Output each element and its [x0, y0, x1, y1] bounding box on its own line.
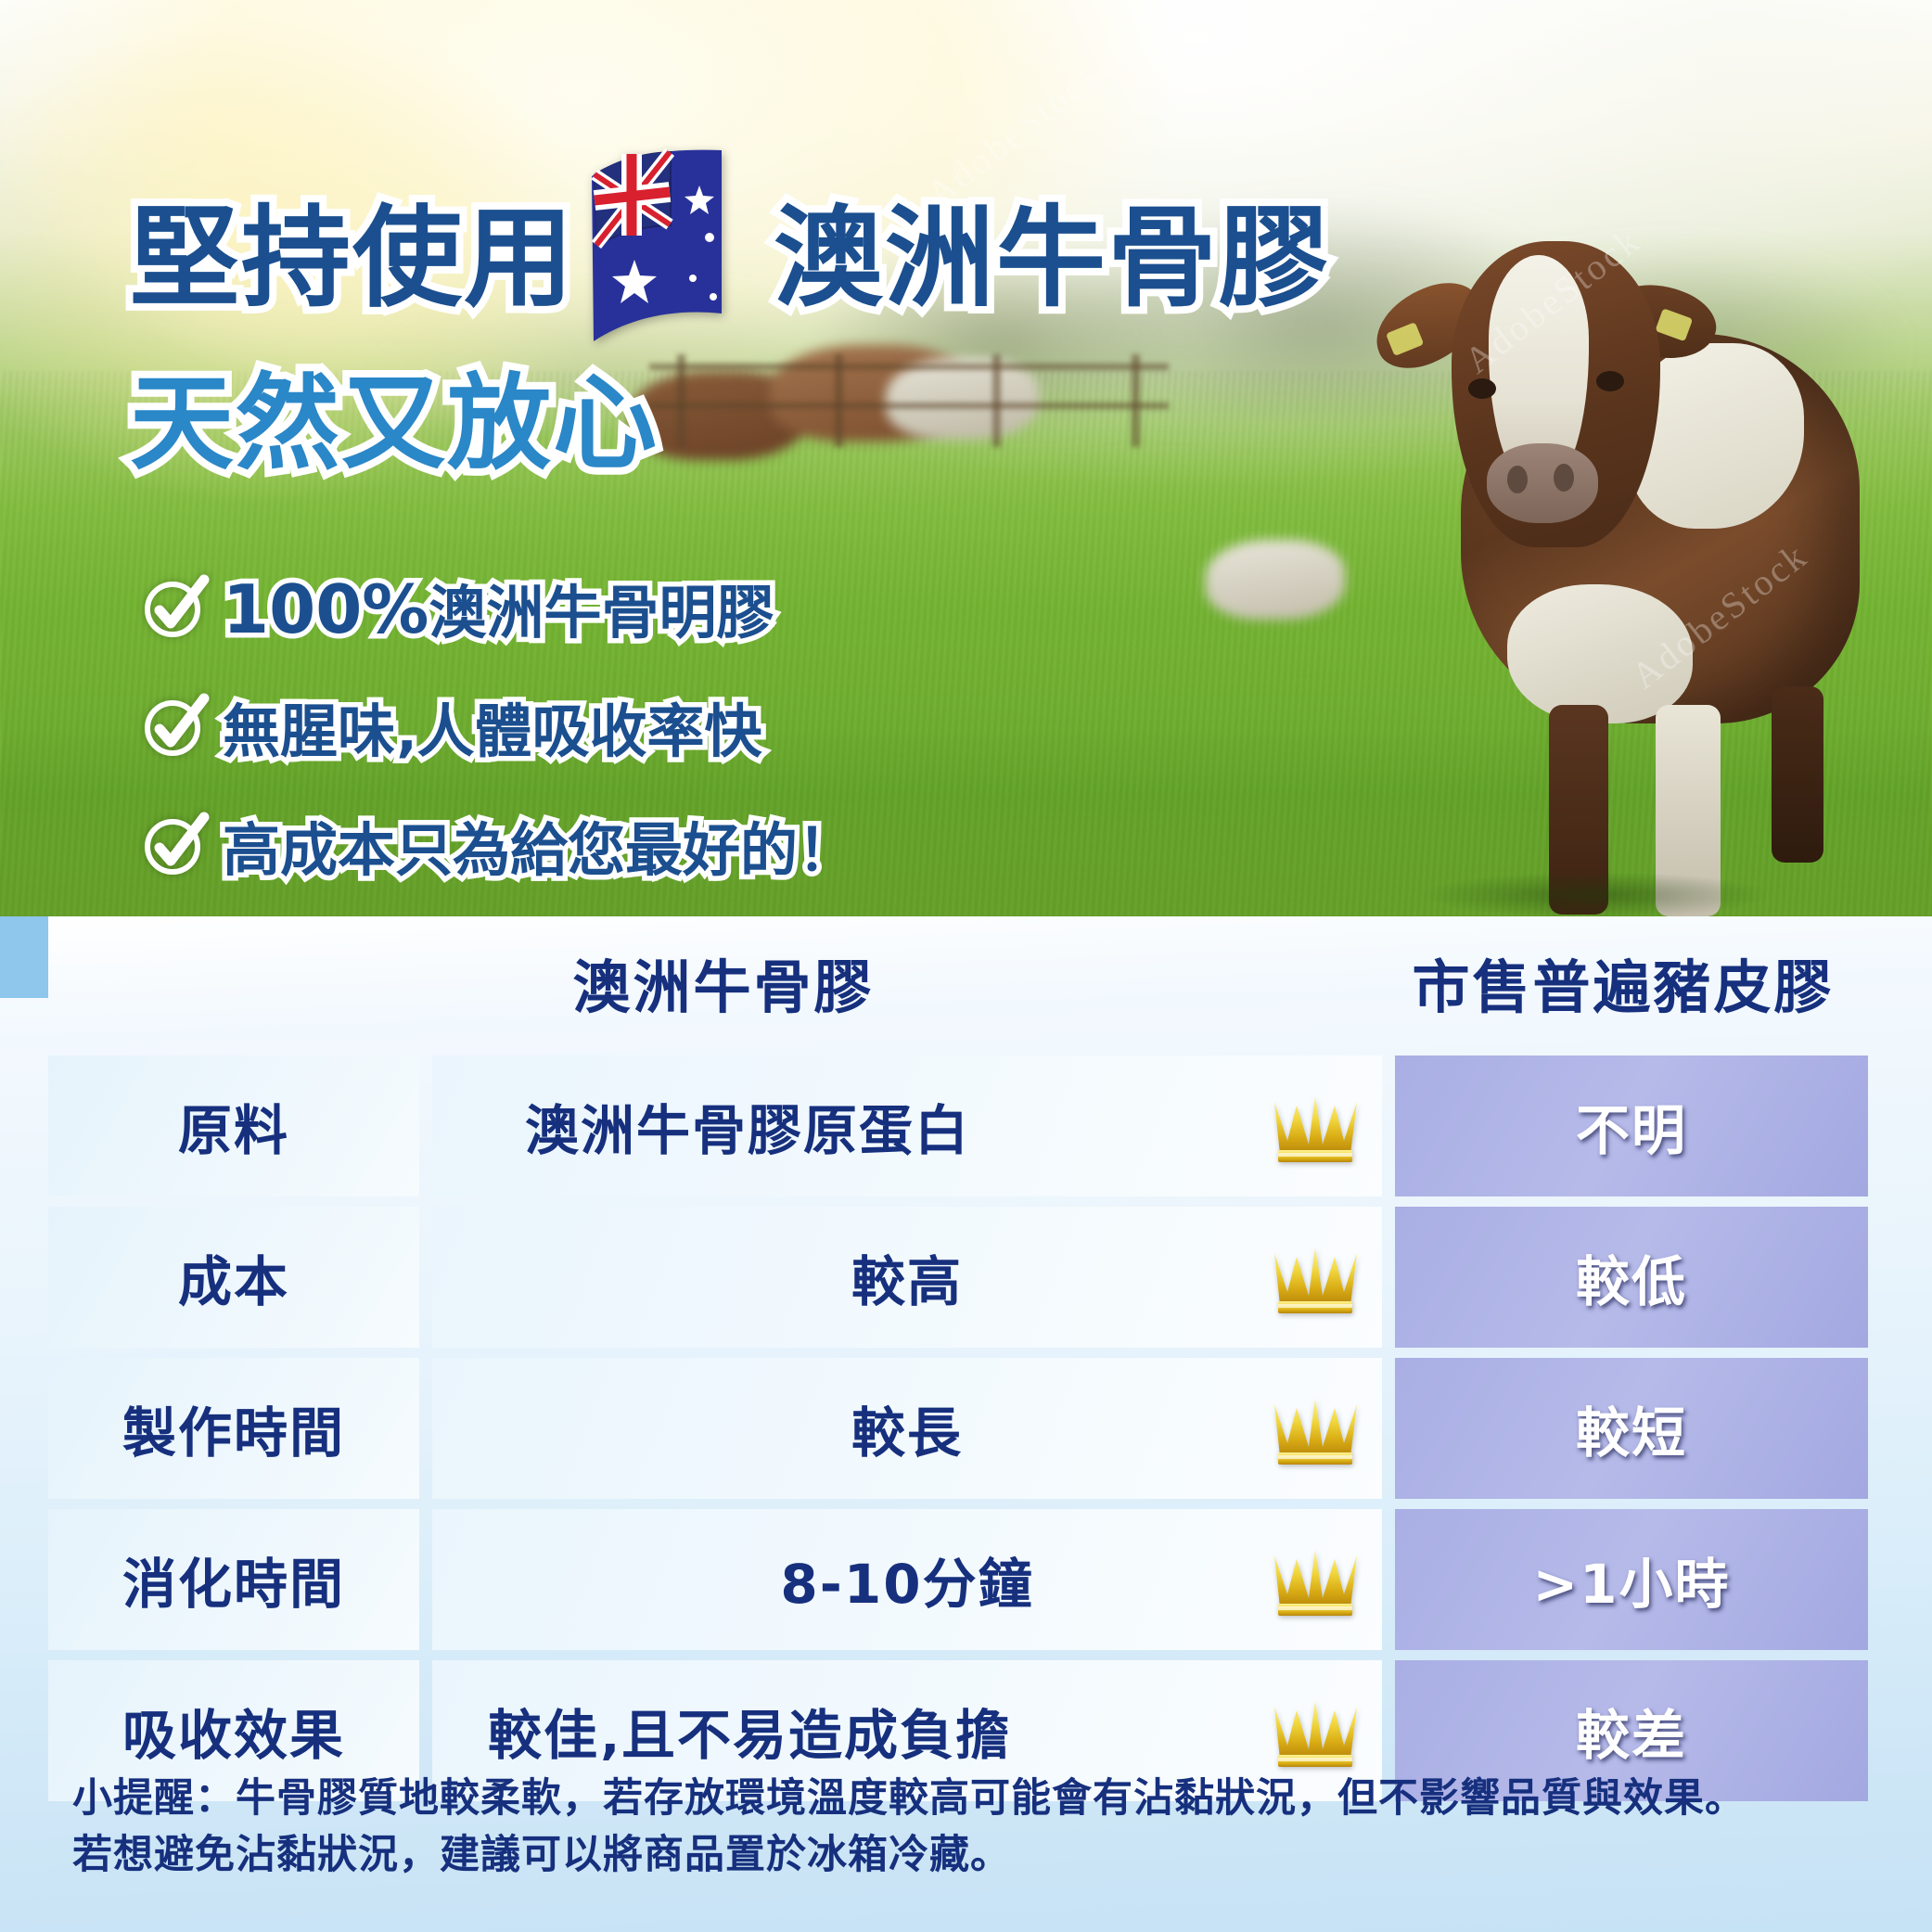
- column-header-theirs: 市售普遍豬皮膠: [1345, 940, 1901, 1024]
- list-item: 100%澳洲牛骨明膠: [139, 566, 855, 649]
- footer-note: 小提醒：牛骨膠質地較柔軟，若存放環境溫度較高可能會有沾黏狀況，但不影響品質與效果…: [72, 1771, 1881, 1884]
- row-label: 成本: [48, 1207, 419, 1348]
- bullet-text-1: 100%澳洲牛骨明膠: [223, 566, 774, 649]
- row-value-ours: 較長: [432, 1358, 1382, 1499]
- crown-icon: [1269, 1083, 1362, 1169]
- headline-line-2: 天然又放心: [130, 371, 659, 477]
- row-label: 消化時間: [48, 1509, 419, 1650]
- australia-flag-icon: [582, 148, 731, 348]
- crown-icon: [1269, 1688, 1362, 1773]
- bullet-label-2: 無腥味‚人體吸收率快: [223, 685, 762, 768]
- bullet-number-1: 100%: [223, 570, 429, 648]
- headline-subtitle: 天然又放心: [130, 371, 659, 477]
- row-value-ours: 澳洲牛骨膠原蛋白: [432, 1056, 1382, 1196]
- check-circle-icon: [139, 572, 210, 643]
- feature-bullet-list: 100%澳洲牛骨明膠 無腥味‚人體吸收率快 高成本只為給您最好的！: [139, 566, 855, 922]
- check-circle-icon: [139, 691, 210, 761]
- table-row: 製作時間 較長 較短: [0, 1358, 1932, 1499]
- crown-icon: [1269, 1537, 1362, 1622]
- list-item: 高成本只為給您最好的！: [139, 803, 855, 887]
- row-label: 原料: [48, 1056, 419, 1196]
- table-row: 原料 澳洲牛骨膠原蛋白 不明: [0, 1056, 1932, 1196]
- table-body: 原料 澳洲牛骨膠原蛋白 不明 成本 較高: [0, 1056, 1932, 1811]
- check-circle-icon: [139, 810, 210, 880]
- list-item: 無腥味‚人體吸收率快: [139, 685, 855, 768]
- bullet-label-1: 澳洲牛骨明膠: [429, 579, 774, 646]
- row-value-ours: 較高: [432, 1207, 1382, 1348]
- note-line-1: 小提醒：牛骨膠質地較柔軟，若存放環境溫度較高可能會有沾黏狀況，但不影響品質與效果…: [72, 1771, 1881, 1827]
- table-row: 成本 較高 較低: [0, 1207, 1932, 1348]
- note-line-2: 若想避免沾黏狀況，建議可以將商品置於冰箱冷藏。: [72, 1827, 1881, 1884]
- row-value-theirs: 較低: [1395, 1207, 1868, 1348]
- comparison-section: 澳洲牛骨膠 市售普遍豬皮膠 原料 澳洲牛骨膠原蛋白 不明: [0, 916, 1932, 1932]
- table-header-row: 澳洲牛骨膠 市售普遍豬皮膠: [0, 916, 1932, 1056]
- row-value-theirs: >1小時: [1395, 1509, 1868, 1650]
- table-row: 消化時間 8-10分鐘 >1小時: [0, 1509, 1932, 1650]
- bullet-label-3: 高成本只為給您最好的！: [223, 803, 855, 887]
- row-value-ours: 8-10分鐘: [432, 1509, 1382, 1650]
- headline-part-2: 澳洲牛骨膠: [774, 202, 1330, 313]
- crown-icon: [1269, 1386, 1362, 1471]
- hero-text-overlay: 堅持使用 澳洲牛骨膠 天然又放心: [0, 0, 1932, 916]
- row-value-theirs: 較短: [1395, 1358, 1868, 1499]
- row-label: 製作時間: [48, 1358, 419, 1499]
- headline-part-1: 堅持使用: [130, 202, 575, 313]
- column-header-ours: 澳洲牛骨膠: [464, 940, 983, 1024]
- crown-icon: [1269, 1235, 1362, 1320]
- row-value-theirs: 不明: [1395, 1056, 1868, 1196]
